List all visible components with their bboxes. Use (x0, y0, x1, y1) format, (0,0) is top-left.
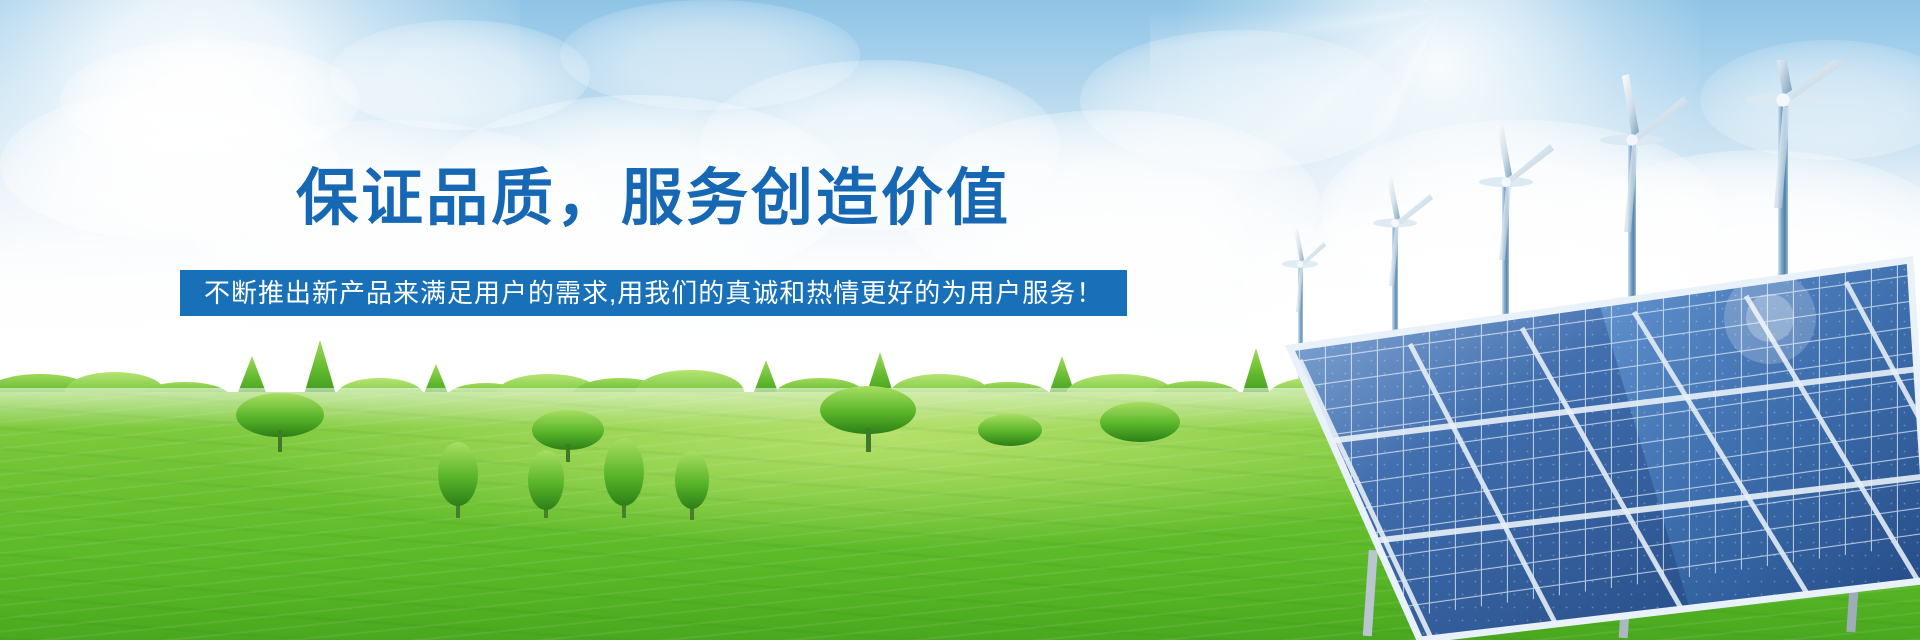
subtitle-bar: 不断推出新产品来满足用户的需求,用我们的真诚和热情更好的为用户服务！ (180, 270, 1127, 316)
hero-banner: 保证品质，服务创造价值 不断推出新产品来满足用户的需求,用我们的真诚和热情更好的… (0, 0, 1920, 640)
solar-panel-array-icon (1170, 250, 1920, 640)
subtitle-text: 不断推出新产品来满足用户的需求,用我们的真诚和热情更好的为用户服务！ (204, 280, 1103, 306)
page-title: 保证品质，服务创造价值 (296, 168, 1011, 230)
